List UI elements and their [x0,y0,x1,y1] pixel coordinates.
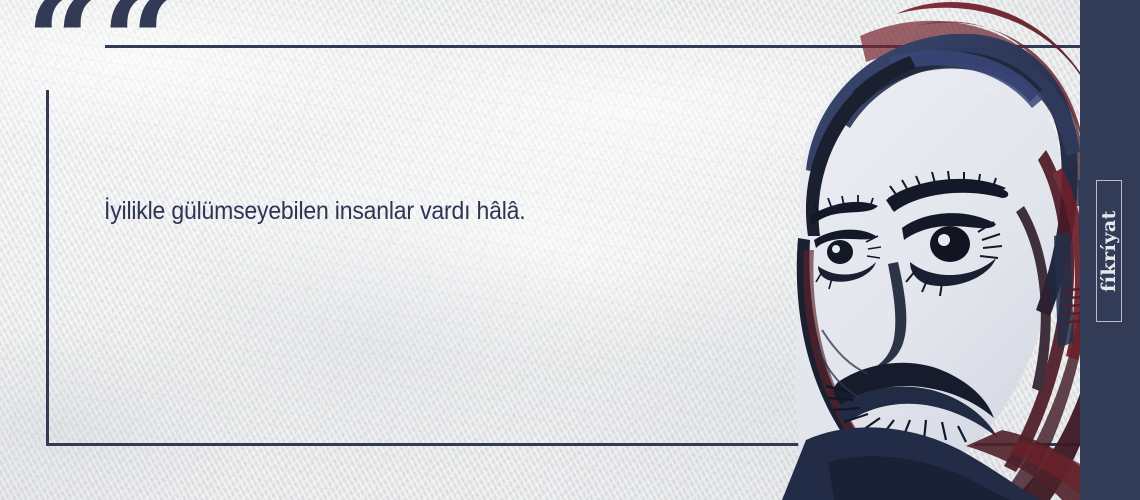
quote-mark-icon: ““ [26,0,177,106]
fikriyat-logo[interactable]: fíkríyat [1096,180,1122,322]
quote-card: ““ İyilikle gülümseyebilen insanlar vard… [0,0,1140,500]
fikriyat-logo-text: fíkríyat [1098,210,1120,292]
quote-text: İyilikle gülümseyebilen insanlar vardı h… [104,196,619,227]
frame-line-left [46,90,49,446]
portrait-illustration [710,0,1140,500]
